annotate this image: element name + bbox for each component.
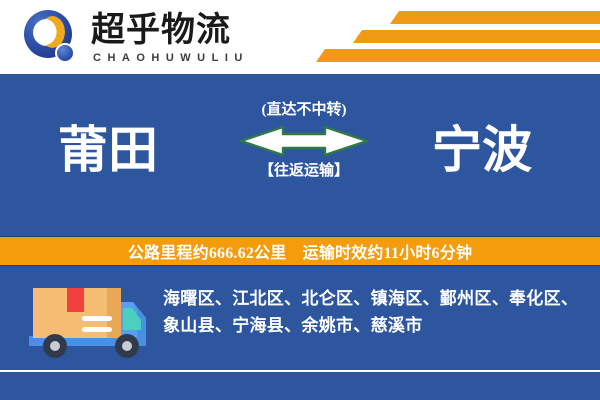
- logistics-route-banner: 超乎物流 CHAOHUWULIU 莆田 (直达不中转) 【往返运输】: [0, 0, 600, 400]
- destination-city-label: 宁波: [432, 122, 532, 178]
- stripe-bottom: [316, 49, 600, 62]
- brand-name-cn: 超乎物流: [91, 13, 249, 49]
- circle-crescent-logo-icon: [22, 9, 80, 67]
- brand-text-block: 超乎物流 CHAOHUWULIU: [91, 13, 249, 64]
- origin-city-label: 莆田: [58, 122, 158, 178]
- stripe-middle: [353, 30, 600, 43]
- direct-route-note: (直达不中转): [228, 100, 380, 120]
- route-middle-block: (直达不中转) 【往返运输】: [228, 100, 380, 181]
- double-headed-arrow-icon: [237, 124, 371, 158]
- route-section: 莆田 (直达不中转) 【往返运输】 宁波: [0, 74, 600, 236]
- banner-header: 超乎物流 CHAOHUWULIU: [0, 0, 600, 72]
- coverage-section: 海曙区、江北区、北仑区、镇海区、鄞州区、奉化区、象山县、宁海县、余姚市、慈溪市: [0, 266, 600, 370]
- banner-footer: [0, 373, 600, 400]
- brand-logo: 超乎物流 CHAOHUWULIU: [22, 9, 249, 67]
- banner-body: 莆田 (直达不中转) 【往返运输】 宁波 公路里程约666.62公里 运输时效约…: [0, 74, 600, 400]
- distance-duration-bar: 公路里程约666.62公里 运输时效约11小时6分钟: [0, 236, 600, 266]
- coverage-districts-text: 海曙区、江北区、北仑区、镇海区、鄞州区、奉化区、象山县、宁海县、余姚市、慈溪市: [163, 285, 581, 339]
- orange-speed-stripes-icon: [300, 11, 600, 63]
- stripe-top: [390, 11, 600, 24]
- distance-duration-text: 公路里程约666.62公里 运输时效约11小时6分钟: [128, 239, 472, 263]
- brand-name-en: CHAOHUWULIU: [93, 53, 249, 64]
- delivery-truck-icon: [25, 280, 150, 358]
- logo-small-dot-shape: [55, 43, 75, 63]
- round-trip-note: 【往返运输】: [228, 161, 380, 181]
